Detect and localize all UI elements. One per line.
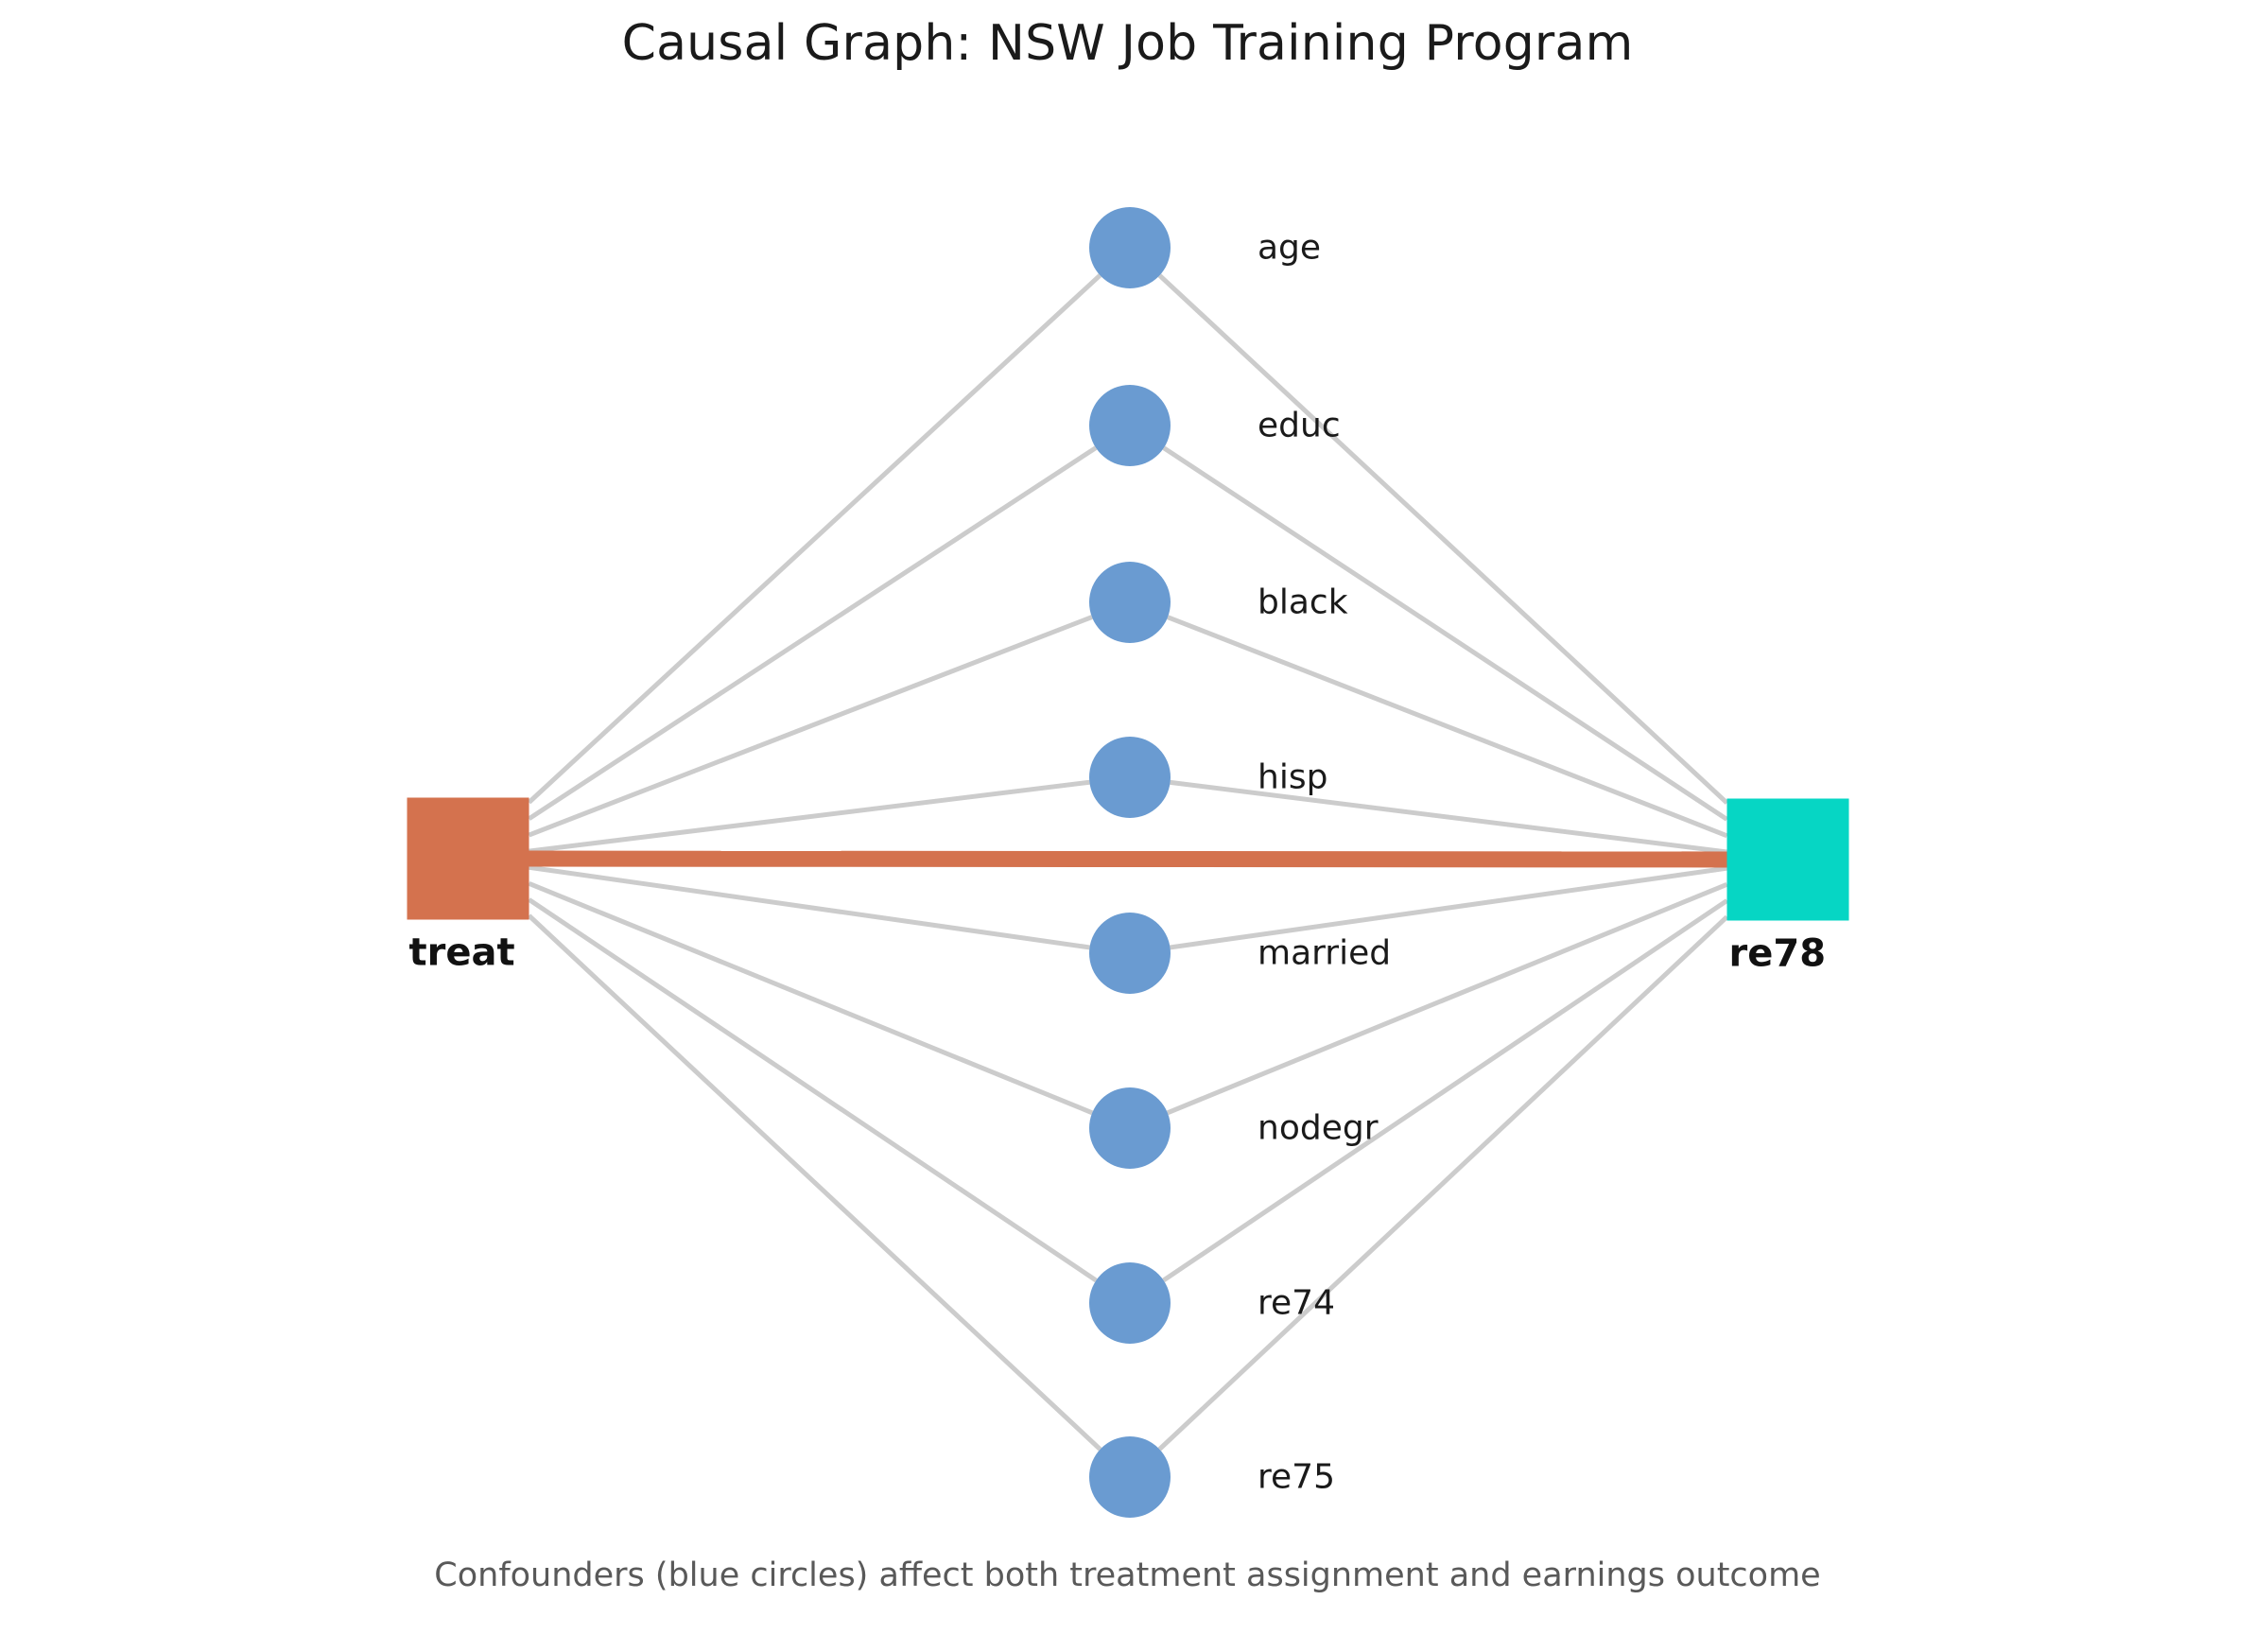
treatment-marker-treat (408, 798, 529, 920)
node-label-re78: re78 (1729, 932, 1827, 976)
edge-confounding-re75-re78 (1159, 917, 1726, 1450)
node-black[interactable]: black (1089, 562, 1348, 643)
node-re74[interactable]: re74 (1089, 1262, 1335, 1344)
confounder-marker-black (1089, 562, 1171, 643)
causal-graph-figure: Causal Graph: NSW Job Training Program t… (0, 0, 2255, 1652)
confounder-marker-age (1089, 207, 1171, 288)
confounder-marker-nodegr (1089, 1087, 1171, 1169)
edge-confounding-hisp-re78 (1171, 782, 1727, 852)
edge-confounding-educ-treat (529, 448, 1097, 819)
node-treat[interactable]: treat (408, 798, 529, 975)
edge-confounding-hisp-treat (529, 782, 1090, 851)
node-label-re74: re74 (1258, 1284, 1335, 1323)
node-label-educ: educ (1258, 407, 1341, 445)
edge-confounding-re75-treat (529, 915, 1101, 1449)
node-re78[interactable]: re78 (1727, 799, 1849, 976)
confounder-marker-married (1089, 913, 1171, 994)
confounder-marker-re75 (1089, 1436, 1171, 1518)
node-educ[interactable]: educ (1089, 385, 1341, 466)
node-label-age: age (1258, 229, 1321, 268)
confounder-marker-educ (1089, 385, 1171, 466)
causal-graph-canvas: treatre78ageeducblackhispmarriednodegrre… (0, 0, 2255, 1652)
edge-confounding-married-re78 (1171, 868, 1727, 948)
edge-confounding-re74-treat (529, 899, 1097, 1280)
confounder-marker-hisp (1089, 737, 1171, 818)
node-label-black: black (1258, 583, 1348, 622)
figure-caption: Confounders (blue circles) affect both t… (0, 1556, 2255, 1594)
node-label-nodegr: nodegr (1258, 1109, 1379, 1148)
edge-confounding-married-treat (529, 867, 1090, 948)
node-label-treat: treat (409, 931, 515, 975)
edge-confounding-nodegr-treat (529, 883, 1093, 1113)
outcome-marker-re78 (1727, 799, 1849, 921)
confounder-marker-re74 (1089, 1262, 1171, 1344)
edge-direct-effect-treat-re78 (529, 859, 1727, 860)
node-hisp[interactable]: hisp (1089, 737, 1327, 818)
node-label-hisp: hisp (1258, 758, 1327, 797)
node-re75[interactable]: re75 (1089, 1436, 1335, 1518)
node-label-re75: re75 (1258, 1458, 1335, 1497)
edge-confounding-educ-re78 (1164, 448, 1727, 820)
node-age[interactable]: age (1089, 207, 1321, 288)
node-nodegr[interactable]: nodegr (1089, 1087, 1379, 1169)
node-label-married: married (1258, 934, 1391, 973)
edge-confounding-re74-re78 (1164, 900, 1727, 1280)
